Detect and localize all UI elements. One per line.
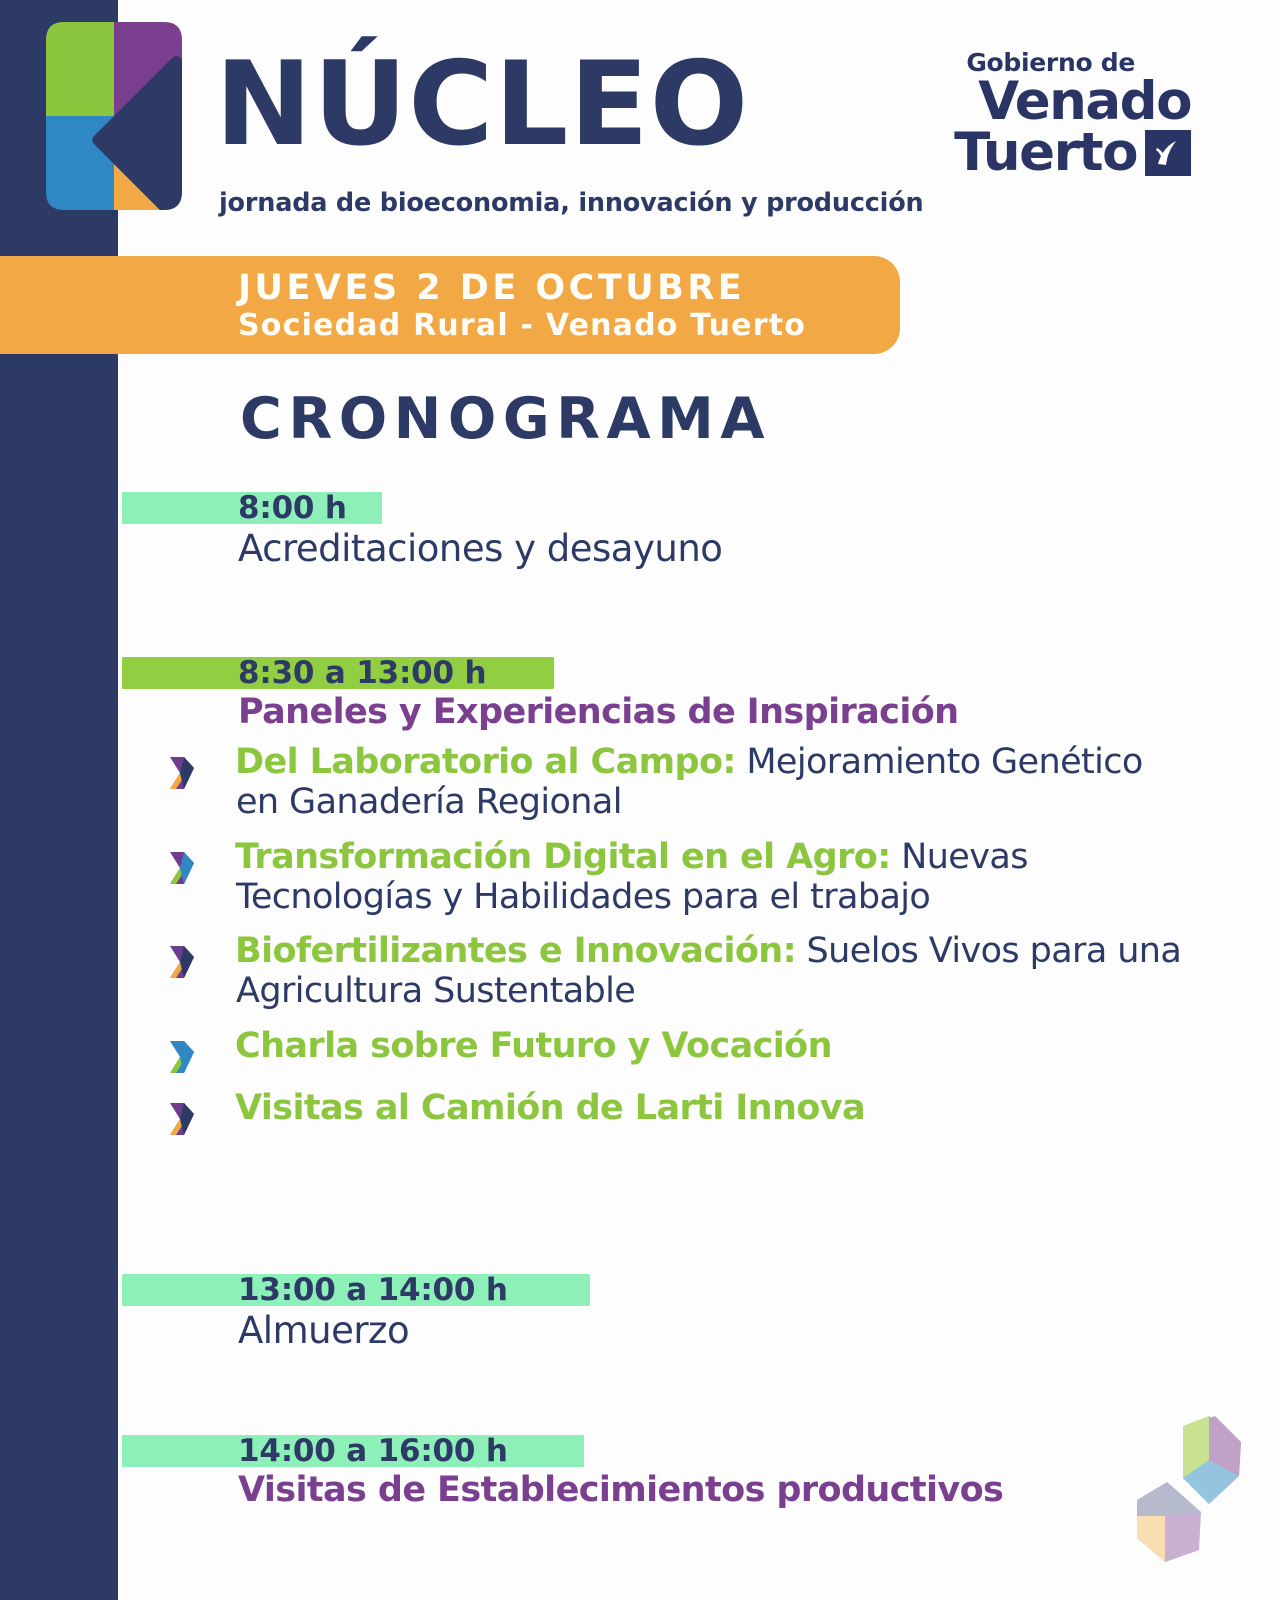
list-item: Biofertilizantes e Innovación: Suelos Vi… [0, 931, 1279, 1012]
schedule-late-list: 13:00 a 14:00 h Almuerzo 14:00 a 16:00 h… [0, 1272, 1279, 1511]
gov-city-line1: Venado [954, 77, 1191, 128]
nucleo-bullet-icon [166, 1038, 198, 1076]
panel-title: Biofertilizantes e Innovación: [235, 931, 796, 971]
schedule-early-list: 8:00 h Acreditaciones y desayuno 8:30 a … [0, 490, 1279, 733]
list-item-text: Visitas al Camión de Larti Innova [236, 1088, 1187, 1128]
nucleo-bullet-icon [166, 1100, 198, 1138]
schedule-slot: 13:00 a 14:00 h Almuerzo [0, 1272, 1279, 1351]
list-item-text: Biofertilizantes e Innovación: Suelos Vi… [236, 931, 1187, 1012]
list-item: Transformación Digital en el Agro: Nueva… [0, 837, 1279, 918]
panel-title: Del Laboratorio al Campo: [235, 742, 736, 782]
slot-description: Acreditaciones y desayuno [238, 528, 1279, 569]
nucleo-bullet-icon [166, 849, 198, 887]
slot-time: 13:00 a 14:00 h [238, 1272, 508, 1308]
panel-title: Transformación Digital en el Agro: [235, 837, 891, 877]
slot-description: Paneles y Experiencias de Inspiración [238, 693, 1279, 732]
slot-time: 8:30 a 13:00 h [238, 655, 486, 691]
panels-list: Del Laboratorio al Campo: Mejoramiento G… [0, 742, 1279, 1150]
nucleo-diamond-logo-icon [28, 18, 200, 214]
schedule-slot: 14:00 a 16:00 h Visitas de Establecimien… [0, 1433, 1279, 1510]
list-item: Visitas al Camión de Larti Innova [0, 1088, 1279, 1136]
gov-city-line2: Tuerto [954, 128, 1137, 179]
brand-tagline: jornada de bioeconomia, innovación y pro… [219, 188, 923, 218]
list-item-text: Del Laboratorio al Campo: Mejoramiento G… [236, 742, 1187, 823]
list-item: Charla sobre Futuro y Vocación [0, 1026, 1279, 1074]
brand-wordmark: NÚCLEO [215, 52, 749, 159]
list-item-text: Transformación Digital en el Agro: Nueva… [236, 837, 1187, 918]
slot-time: 8:00 h [238, 490, 347, 526]
panel-title: Charla sobre Futuro y Vocación [235, 1026, 832, 1066]
slot-time: 14:00 a 16:00 h [238, 1433, 508, 1469]
list-item-text: Charla sobre Futuro y Vocación [236, 1026, 1187, 1066]
government-logo: Gobierno de Venado Tuerto [954, 50, 1191, 179]
nucleo-watermark-logo-icon [1113, 1404, 1265, 1572]
panel-title: Visitas al Camión de Larti Innova [235, 1088, 865, 1128]
poster-header: NÚCLEO jornada de bioeconomia, innovació… [0, 0, 1279, 235]
schedule-slot: 8:00 h Acreditaciones y desayuno [0, 490, 1279, 569]
schedule-slot: 8:30 a 13:00 h Paneles y Experiencias de… [0, 655, 1279, 732]
slot-description: Almuerzo [238, 1310, 1279, 1351]
poster-canvas: NÚCLEO jornada de bioeconomia, innovació… [0, 0, 1279, 1600]
date-banner-venue: Sociedad Rural - Venado Tuerto [238, 309, 806, 344]
date-banner: JUEVES 2 DE OCTUBRE Sociedad Rural - Ven… [0, 256, 900, 354]
date-banner-title: JUEVES 2 DE OCTUBRE [238, 269, 806, 308]
nucleo-bullet-icon [166, 943, 198, 981]
page-title: CRONOGRAMA [240, 386, 771, 452]
venado-tuerto-leaf-mark-icon [1145, 130, 1191, 176]
nucleo-bullet-icon [166, 754, 198, 792]
list-item: Del Laboratorio al Campo: Mejoramiento G… [0, 742, 1279, 823]
